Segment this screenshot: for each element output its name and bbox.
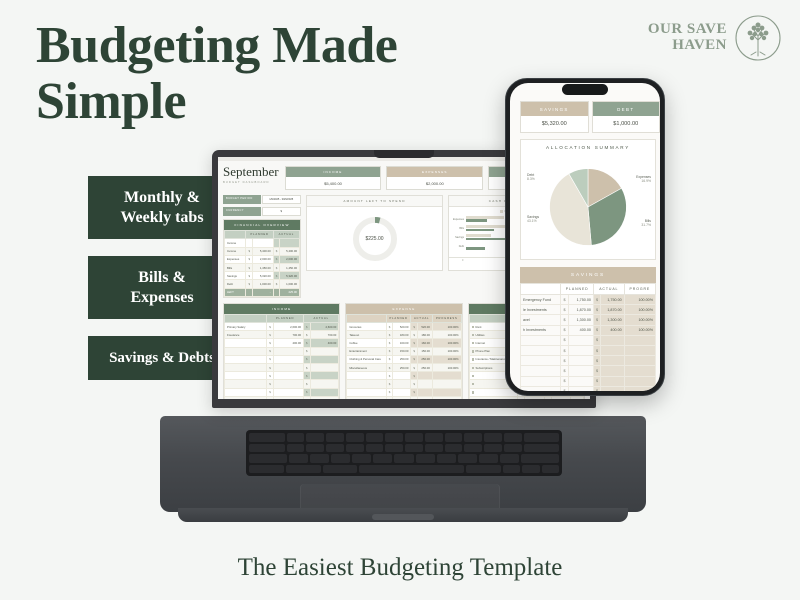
table-cell[interactable] [310, 380, 339, 388]
table-row[interactable]: $$ [521, 335, 656, 345]
table-row[interactable]: le Investments$1,870.00$1,870.00100.00% [521, 305, 656, 315]
table-cell[interactable]: $ [561, 295, 568, 305]
table-cell[interactable]: $ [561, 366, 568, 376]
cash-flow-category-label: Bills [453, 227, 464, 230]
table-row[interactable]: $$ [521, 366, 656, 376]
card-title: EXPENSE [346, 304, 461, 314]
col-progress: PROGRESS [432, 315, 461, 323]
table-cell[interactable] [225, 347, 267, 355]
table-cell[interactable] [310, 396, 339, 399]
kpi-title: EXPENSES [387, 167, 482, 177]
table-cell[interactable] [273, 380, 303, 388]
table-row[interactable]: Debt$1,000.00$1,000.00 [225, 280, 300, 288]
kpi-value: $1,000.00 [593, 116, 660, 132]
table-cell[interactable]: $ [561, 345, 568, 355]
table-cell[interactable] [273, 372, 303, 380]
table-row[interactable]: Clothing & Personal Care$250.00$250.0010… [347, 355, 461, 363]
table-cell[interactable] [225, 380, 267, 388]
table-cell[interactable] [624, 386, 655, 391]
table-cell[interactable] [432, 396, 461, 399]
cash-flow-category-label: Savings [453, 236, 464, 239]
table-cell[interactable] [568, 356, 593, 366]
table-row[interactable]: $$ [225, 372, 339, 380]
table-row[interactable]: Primary Salary$2,600.00$2,600.00 [225, 323, 339, 331]
table-cell[interactable] [225, 372, 267, 380]
table-cell[interactable]: 5,320.00 [253, 272, 274, 280]
table-cell[interactable] [469, 396, 517, 399]
table-row[interactable]: Entertainment$150.00$150.00100.00% [347, 347, 461, 355]
checkbox-icon[interactable] [472, 342, 474, 344]
table-cell[interactable]: 100.00% [432, 323, 461, 331]
dashboard-subtitle: BUDGET DASHBOARD [223, 181, 279, 184]
control-label: BUDGET PERIOD [223, 195, 261, 204]
table-row[interactable]: Income [225, 239, 300, 247]
table-row[interactable]: $$ [521, 345, 656, 355]
dashboard-left-column: BUDGET PERIOD 1/9/2025 - 30/9/2025 CURRE… [223, 195, 301, 298]
table-row[interactable]: $$ [469, 396, 583, 399]
table-cell[interactable] [568, 335, 593, 345]
col-name [521, 284, 561, 295]
table-cell[interactable]: 2,000.00 [253, 255, 274, 263]
table-cell[interactable] [417, 388, 432, 396]
table-cell[interactable]: 5,400.00 [253, 247, 274, 255]
laptop-base [160, 416, 646, 512]
page-caption: The Easiest Budgeting Template [0, 554, 800, 582]
table-cell[interactable]: 400.00 [310, 339, 339, 347]
pie-label-savings: Savings43.1% [527, 215, 539, 224]
checkbox-icon[interactable] [472, 334, 474, 336]
table-cell[interactable] [347, 380, 386, 388]
table-cell[interactable]: 100.00% [432, 331, 461, 339]
table-cell[interactable] [432, 388, 461, 396]
table-cell[interactable]: 225.00 [280, 288, 300, 296]
table-cell[interactable]: - [253, 288, 274, 296]
table-cell[interactable] [568, 366, 593, 376]
table-cell[interactable] [624, 366, 655, 376]
table-cell[interactable] [225, 388, 267, 396]
table-row[interactable]: $$ [347, 372, 461, 380]
table-cell[interactable] [601, 345, 625, 355]
table-row[interactable]: $$ [225, 388, 339, 396]
table-cell[interactable]: Expenses [225, 255, 246, 263]
table-cell[interactable]: 2,600.00 [273, 323, 303, 331]
table-row[interactable]: Bills$1,450.00$1,450.00 [225, 263, 300, 271]
table-cell[interactable] [310, 388, 339, 396]
table-cell[interactable] [225, 339, 267, 347]
table-cell[interactable] [347, 396, 386, 399]
cash-flow-bar-actual [466, 247, 485, 250]
amount-left-value: $225.00 [350, 214, 400, 264]
keyboard-row [249, 465, 559, 474]
table-cell[interactable]: 150.00 [417, 347, 432, 355]
table-cell[interactable]: Takeout [347, 331, 386, 339]
expense-table: PLANNED ACTUAL PROGRESS Groceries$520.00… [346, 314, 461, 399]
axis-tick: 0 [462, 259, 463, 262]
table-cell[interactable]: Savings [225, 272, 246, 280]
cash-flow-bar-actual [466, 229, 494, 232]
table-cell[interactable] [521, 345, 561, 355]
table-cell[interactable]: Bills [225, 263, 246, 271]
table-cell[interactable]: 100.00% [432, 339, 461, 347]
table-cell[interactable]: 100.00% [624, 295, 655, 305]
table-row[interactable]: $$ [347, 388, 461, 396]
pie-label-debt: Debt8.3% [527, 173, 535, 182]
table-row[interactable]: Income$5,400.00$5,400.00 [225, 247, 300, 255]
table-cell[interactable]: h Investments [521, 325, 561, 335]
checkbox-icon[interactable] [472, 383, 474, 385]
table-cell[interactable] [393, 380, 411, 388]
table-cell[interactable]: Groceries [347, 323, 386, 331]
table-cell[interactable]: $ [593, 366, 600, 376]
income-table: PLANNED ACTUAL Primary Salary$2,600.00$2… [224, 314, 339, 399]
card-title: FINANCIAL OVERVIEW [224, 220, 300, 230]
table-cell[interactable] [524, 396, 545, 399]
kpi-title: INCOME [286, 167, 381, 177]
col-planned: PLANNED [267, 315, 304, 323]
table-cell[interactable]: 160.00 [393, 339, 411, 347]
table-cell[interactable]: Income [225, 239, 246, 247]
table-row[interactable]: $400.00$400.00 [225, 339, 339, 347]
table-cell[interactable] [521, 376, 561, 386]
table-cell[interactable]: 100.00% [624, 305, 655, 315]
laptop-lip-notch [372, 514, 434, 520]
card-title: AMOUNT LEFT TO SPEND [307, 196, 442, 207]
table-cell[interactable]: 100.00% [624, 325, 655, 335]
table-cell[interactable]: 1,870.00 [568, 305, 593, 315]
table-cell[interactable]: 2,000.00 [280, 255, 300, 263]
poster-stage: Budgeting Made Simple OUR SAVE HAVEN Mon [0, 0, 800, 600]
table-cell[interactable]: 1,300.00 [601, 315, 625, 325]
table-cell[interactable] [601, 376, 625, 386]
table-cell[interactable] [273, 396, 303, 399]
table-cell[interactable] [601, 366, 625, 376]
table-cell[interactable] [347, 388, 386, 396]
financial-overview-body: IncomeIncome$5,400.00$5,400.00Expenses$2… [225, 239, 300, 296]
table-cell[interactable] [624, 356, 655, 366]
table-cell[interactable]: 180.00 [393, 331, 411, 339]
phone-savings-table: PLANNED ACTUAL PROGRE Emergency Fund$1,7… [520, 283, 656, 391]
table-row[interactable]: $$ [521, 356, 656, 366]
kpi-value: $2,000.00 [387, 177, 482, 189]
table-cell[interactable]: $ [593, 295, 600, 305]
phone-dynamic-island [562, 84, 608, 95]
table-cell[interactable]: 100.00% [432, 347, 461, 355]
table-header-row: PLANNED ACTUAL [225, 315, 339, 323]
table-cell[interactable]: 180.00 [417, 331, 432, 339]
laptop-keyboard [246, 430, 562, 476]
table-cell[interactable]: 100.00% [624, 315, 655, 325]
table-cell[interactable]: 1,300.00 [568, 315, 593, 325]
kpi-card-expenses[interactable]: EXPENSES $2,000.00 [386, 166, 483, 190]
table-cell[interactable] [310, 347, 339, 355]
table-row[interactable]: $$ [347, 380, 461, 388]
table-row[interactable]: $$ [225, 355, 339, 363]
table-cell[interactable] [432, 380, 461, 388]
table-cell[interactable]: Income [225, 247, 246, 255]
table-cell[interactable]: 700.00 [273, 331, 303, 339]
table-cell[interactable] [568, 386, 593, 391]
logo-text: OUR SAVE HAVEN [648, 22, 727, 54]
table-cell[interactable] [273, 388, 303, 396]
table-cell[interactable]: Debt [225, 280, 246, 288]
table-cell[interactable] [310, 355, 339, 363]
table-cell[interactable] [253, 239, 274, 247]
table-cell[interactable]: 250.00 [417, 355, 432, 363]
financial-overview-table: PLANNED ACTUAL IncomeIncome$5,400.00$5,4… [224, 230, 300, 296]
col-progress: PROGRE [624, 284, 655, 295]
table-cell[interactable]: 1,750.00 [601, 295, 625, 305]
phone-kpi-debt[interactable]: DEBT $1,000.00 [592, 101, 661, 133]
table-cell[interactable]: 5,320.00 [280, 272, 300, 280]
table-cell[interactable] [225, 396, 267, 399]
table-cell[interactable]: $ [593, 386, 600, 391]
table-cell[interactable]: 250.00 [393, 364, 411, 372]
table-cell[interactable] [521, 386, 561, 391]
currency-control[interactable]: CURRENCY $ [223, 207, 301, 216]
table-cell[interactable]: 2,600.00 [310, 323, 339, 331]
table-cell[interactable]: 1,750.00 [568, 295, 593, 305]
tree-in-circle-icon [734, 14, 782, 62]
table-cell[interactable] [273, 355, 303, 363]
expense-table-card: EXPENSE PLANNED ACTUAL PROGRESS Grocerie… [345, 303, 462, 399]
table-cell[interactable]: Clothing & Personal Care [347, 355, 386, 363]
table-cell[interactable] [417, 380, 432, 388]
table-cell[interactable]: 100.00% [432, 355, 461, 363]
table-cell[interactable] [393, 388, 411, 396]
dashboard-center-column: AMOUNT LEFT TO SPEND $225.00 [306, 195, 443, 298]
col-actual: ACTUAL [273, 231, 299, 239]
keyboard-row [249, 433, 559, 442]
control-value: 1/9/2025 - 30/9/2025 [262, 195, 302, 204]
col-actual: ACTUAL [304, 315, 339, 323]
table-row[interactable]: $$ [225, 396, 339, 399]
table-cell[interactable] [393, 372, 411, 380]
amount-left-donut: $225.00 [350, 214, 400, 264]
col-planned: PLANNED [386, 315, 411, 323]
table-cell[interactable]: 1,450.00 [253, 263, 274, 271]
table-cell[interactable]: $ [593, 315, 600, 325]
table-row[interactable]: Emergency Fund$1,750.00$1,750.00100.00% [521, 295, 656, 305]
table-header-row: PLANNED ACTUAL PROGRESS [347, 315, 461, 323]
keyboard-row [249, 444, 559, 453]
table-cell[interactable]: Primary Salary [225, 323, 267, 331]
table-row[interactable]: h Investments$400.00$400.00100.00% [521, 325, 656, 335]
table-cell[interactable]: $ [561, 356, 568, 366]
logo-line-1: OUR SAVE [648, 22, 727, 38]
col-planned: PLANNED [561, 284, 593, 295]
kpi-value: $5,400.00 [286, 177, 381, 189]
table-cell[interactable]: $ [561, 315, 568, 325]
phone-savings-title: SAVINGS [520, 267, 656, 283]
amount-left-card: AMOUNT LEFT TO SPEND $225.00 [306, 195, 443, 271]
table-cell[interactable]: LEFT [225, 288, 246, 296]
table-cell[interactable]: $ [593, 376, 600, 386]
logo-line-2: HAVEN [648, 38, 727, 54]
table-cell[interactable] [432, 372, 461, 380]
checkbox-icon[interactable] [472, 350, 474, 352]
table-cell[interactable]: 520.00 [393, 323, 411, 331]
table-cell[interactable]: 700.00 [310, 331, 339, 339]
table-row[interactable]: $$ [225, 380, 339, 388]
table-cell[interactable]: Freelance [225, 331, 267, 339]
table-cell[interactable] [225, 364, 267, 372]
col-actual: ACTUAL [411, 315, 433, 323]
table-cell[interactable]: $ [593, 325, 600, 335]
table-cell[interactable] [310, 364, 339, 372]
control-label: CURRENCY [223, 207, 261, 216]
table-cell[interactable]: 1,450.00 [280, 263, 300, 271]
allocation-pie-chart [540, 159, 636, 255]
table-header-row: PLANNED ACTUAL PROGRE [521, 284, 656, 295]
table-cell[interactable]: $ [561, 376, 568, 386]
dashboard-month: September [223, 165, 279, 178]
cash-flow-category-label: Debt [453, 245, 464, 248]
checkbox-icon[interactable] [472, 367, 474, 369]
cash-flow-bar-actual [466, 219, 487, 222]
card-title: INCOME [224, 304, 339, 314]
cash-flow-bar-planned [466, 216, 504, 219]
table-row[interactable]: Coffee$160.00$160.00100.00% [347, 339, 461, 347]
table-row[interactable]: $$ [225, 364, 339, 372]
table-cell[interactable]: 400.00 [601, 325, 625, 335]
table-cell[interactable] [273, 364, 303, 372]
table-cell[interactable] [280, 239, 300, 247]
table-cell[interactable]: $ [561, 386, 568, 391]
table-row[interactable]: $$ [225, 347, 339, 355]
allocation-pie-wrap: Debt8.3% Expenses16.9% Bills31.7% Saving… [521, 155, 655, 259]
checkbox-icon[interactable] [472, 326, 474, 328]
table-cell[interactable]: $ [593, 356, 600, 366]
table-row[interactable]: avel$1,300.00$1,300.00100.00% [521, 315, 656, 325]
table-cell[interactable]: 400.00 [568, 325, 593, 335]
table-cell[interactable] [521, 356, 561, 366]
cash-flow-bar-planned [466, 234, 491, 237]
kpi-title: DEBT [593, 102, 660, 116]
table-cell[interactable] [601, 356, 625, 366]
kpi-value: $5,320.00 [521, 116, 588, 132]
table-cell[interactable]: le Investments [521, 305, 561, 315]
table-row[interactable]: $$ [521, 376, 656, 386]
table-cell[interactable] [624, 376, 655, 386]
income-table-card: INCOME PLANNED ACTUAL Primary Salary$2,6… [223, 303, 340, 399]
table-cell[interactable] [225, 355, 267, 363]
table-cell[interactable] [551, 396, 570, 399]
col-name [347, 315, 386, 323]
card-title: ALLOCATION SUMMARY [521, 140, 655, 155]
table-cell[interactable]: Miscellaneous [347, 364, 386, 372]
table-cell[interactable] [601, 335, 625, 345]
page-title: Budgeting Made Simple [36, 18, 456, 129]
table-cell[interactable]: 1,000.00 [253, 280, 274, 288]
checkbox-icon[interactable] [472, 391, 474, 393]
table-cell[interactable]: Entertainment [347, 347, 386, 355]
kpi-card-income[interactable]: INCOME $5,400.00 [285, 166, 382, 190]
table-cell[interactable]: $ [593, 345, 600, 355]
table-cell[interactable] [417, 396, 432, 399]
pie-label-bills: Bills31.7% [641, 219, 651, 228]
phone-savings-body: Emergency Fund$1,750.00$1,750.00100.00%l… [521, 295, 656, 392]
table-cell[interactable] [601, 386, 625, 391]
table-cell[interactable] [417, 372, 432, 380]
allocation-summary-card: ALLOCATION SUMMARY Debt8.3% Expenses16.9… [520, 139, 656, 260]
table-cell[interactable]: $ [561, 325, 568, 335]
table-cell[interactable]: Emergency Fund [521, 295, 561, 305]
table-cell[interactable]: avel [521, 315, 561, 325]
keyboard-row [249, 454, 559, 463]
table-cell[interactable]: Coffee [347, 339, 386, 347]
table-cell[interactable] [393, 396, 411, 399]
table-row[interactable]: $$ [521, 386, 656, 391]
kpi-title: SAVINGS [521, 102, 588, 116]
table-row[interactable]: Savings$5,320.00$5,320.00 [225, 272, 300, 280]
table-cell[interactable]: 1,000.00 [280, 280, 300, 288]
table-cell[interactable]: 520.00 [417, 323, 432, 331]
table-cell[interactable] [568, 345, 593, 355]
table-cell[interactable]: 5,400.00 [280, 247, 300, 255]
table-cell[interactable]: $ [593, 335, 600, 345]
checkbox-icon[interactable] [472, 358, 474, 360]
table-cell[interactable] [571, 396, 584, 399]
table-cell[interactable]: 150.00 [393, 347, 411, 355]
table-cell[interactable]: $ [593, 305, 600, 315]
table-cell[interactable] [273, 347, 303, 355]
table-cell[interactable]: 400.00 [273, 339, 303, 347]
control-value: $ [262, 207, 302, 216]
expense-table-body: Groceries$520.00$520.00100.00%Takeout$18… [347, 323, 461, 399]
table-row[interactable]: Freelance$700.00$700.00 [225, 331, 339, 339]
phone-mockup: SAVINGS $5,320.00 DEBT $1,000.00 ALLOCAT… [505, 78, 665, 396]
budget-period-control[interactable]: BUDGET PERIOD 1/9/2025 - 30/9/2025 [223, 195, 301, 204]
table-cell[interactable]: 100.00% [432, 364, 461, 372]
table-row[interactable]: Groceries$520.00$520.00100.00% [347, 323, 461, 331]
table-row[interactable]: Miscellaneous$250.00$250.00100.00% [347, 364, 461, 372]
col-name [225, 231, 246, 239]
phone-savings-table-wrap: PLANNED ACTUAL PROGRE Emergency Fund$1,7… [520, 283, 656, 391]
table-row[interactable]: Takeout$180.00$180.00100.00% [347, 331, 461, 339]
cash-flow-category-label: Expenses [453, 218, 464, 221]
table-cell[interactable] [624, 335, 655, 345]
income-table-body: Primary Salary$2,600.00$2,600.00Freelanc… [225, 323, 339, 399]
table-cell[interactable]: $ [561, 305, 568, 315]
table-cell[interactable]: 1,870.00 [601, 305, 625, 315]
table-cell[interactable]: 250.00 [417, 364, 432, 372]
phone-screen: SAVINGS $5,320.00 DEBT $1,000.00 ALLOCAT… [510, 83, 660, 391]
table-cell[interactable]: 250.00 [393, 355, 411, 363]
table-cell[interactable] [347, 372, 386, 380]
col-planned: PLANNED [246, 231, 273, 239]
table-cell[interactable] [521, 335, 561, 345]
table-cell[interactable]: $ [561, 335, 568, 345]
table-row[interactable]: Expenses$2,000.00$2,000.00 [225, 255, 300, 263]
table-cell[interactable] [568, 376, 593, 386]
table-row[interactable]: $$ [347, 396, 461, 399]
checkbox-icon[interactable] [472, 375, 474, 377]
pie-label-expenses: Expenses16.9% [636, 175, 651, 184]
col-name [225, 315, 267, 323]
table-total-row: LEFT-225.00 [225, 288, 300, 296]
table-cell[interactable] [521, 366, 561, 376]
col-actual: ACTUAL [593, 284, 624, 295]
webcam-notch [374, 150, 434, 158]
table-cell[interactable] [310, 372, 339, 380]
table-cell[interactable] [624, 345, 655, 355]
brand-logo: OUR SAVE HAVEN [648, 14, 782, 62]
financial-overview-card: FINANCIAL OVERVIEW PLANNED ACTUAL Income… [223, 219, 301, 298]
table-header-row: PLANNED ACTUAL [225, 231, 300, 239]
table-cell[interactable]: 160.00 [417, 339, 432, 347]
phone-kpi-savings[interactable]: SAVINGS $5,320.00 [520, 101, 589, 133]
